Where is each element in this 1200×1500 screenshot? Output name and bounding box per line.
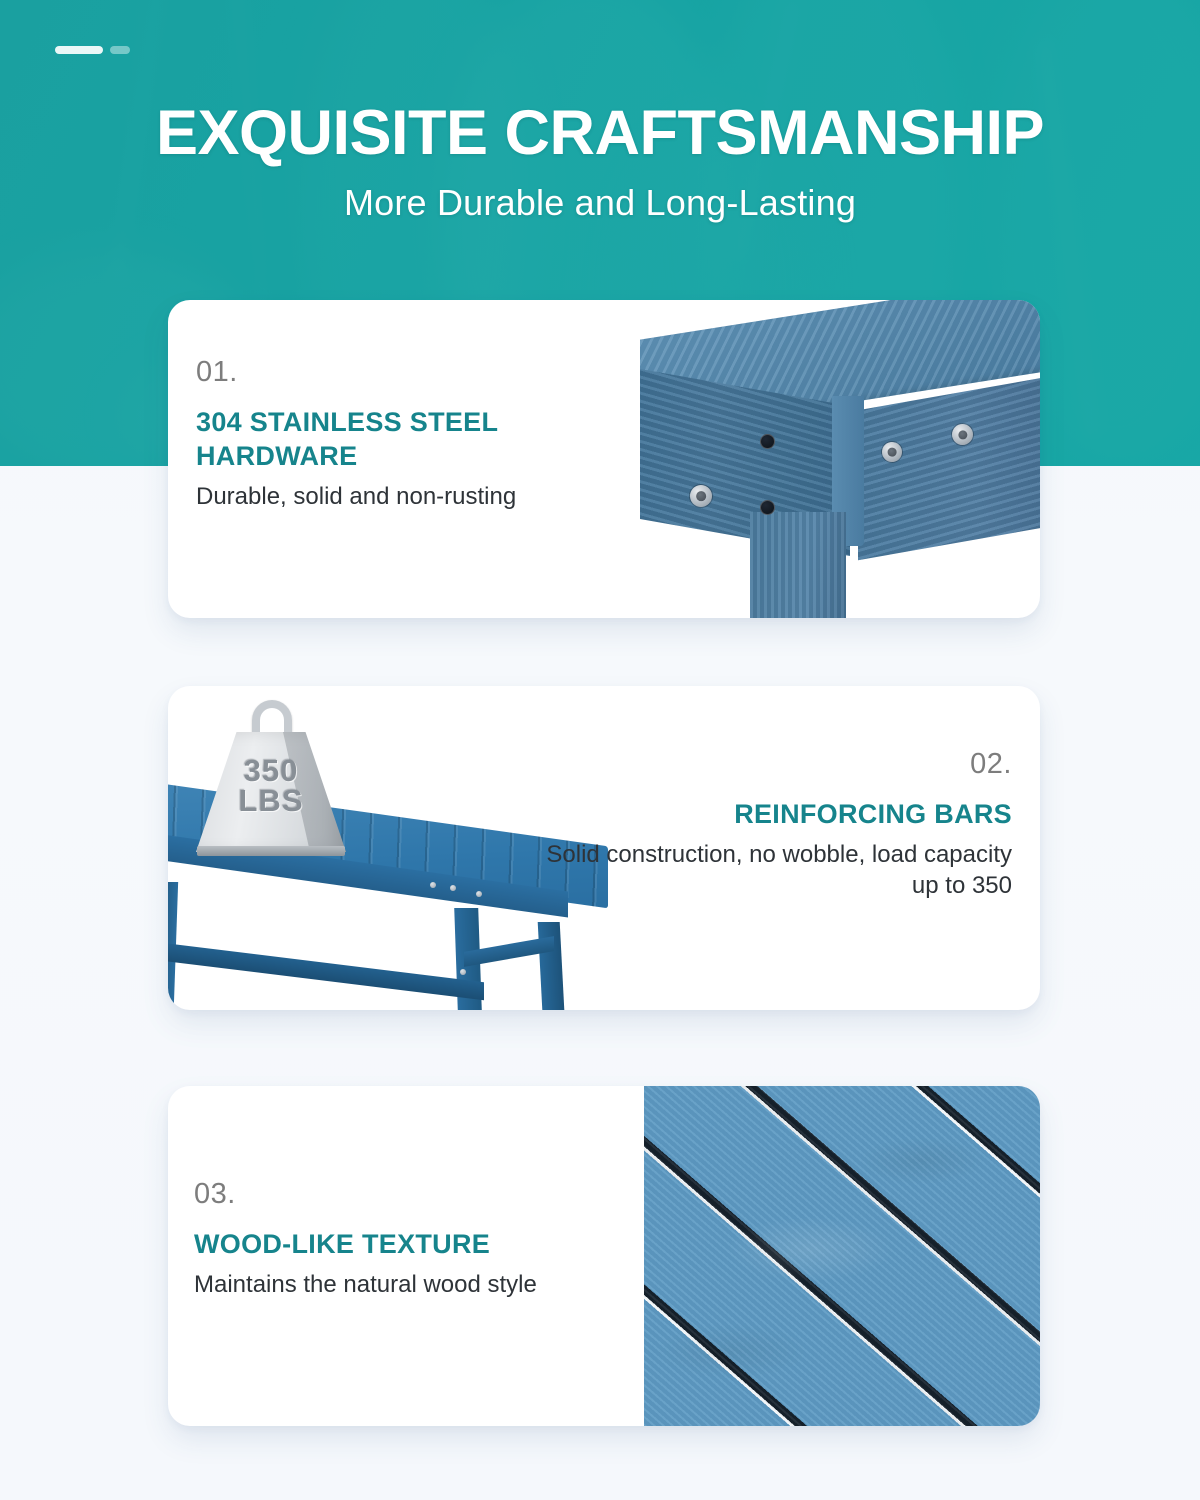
rivet-icon [476, 891, 482, 897]
screw-icon [760, 500, 775, 515]
diagonal-wood-grain-planks-image [644, 1086, 1040, 1426]
table-apron-right [858, 370, 1040, 561]
screw-icon [760, 434, 775, 449]
table-leg [750, 512, 846, 618]
rivet-icon [430, 882, 436, 888]
bolt-icon [690, 485, 712, 507]
rivet-icon [450, 885, 456, 891]
bench-leg-far-right [538, 922, 565, 1010]
feature-title: 304 STAINLESS STEEL HARDWARE [196, 405, 666, 473]
weight-badge-350lbs: 350 LBS [196, 700, 346, 856]
feature-number: 02. [542, 748, 1012, 781]
weight-label: 350 LBS [196, 756, 346, 817]
feature-card-3: 03. WOOD-LIKE TEXTURE Maintains the natu… [168, 1086, 1040, 1426]
pill-long-icon [55, 46, 103, 54]
feature-number: 01. [196, 356, 666, 389]
feature-description: Solid construction, no wobble, load capa… [542, 839, 1012, 901]
reinforcing-bar-long [168, 942, 484, 1001]
feature-title: REINFORCING BARS [542, 797, 1012, 831]
feature-card-2-text: 02. REINFORCING BARS Solid construction,… [542, 748, 1012, 901]
header-decorative-pills [55, 46, 130, 54]
feature-card-1: 01. 304 STAINLESS STEEL HARDWARE Durable… [168, 300, 1040, 618]
feature-description: Durable, solid and non-rusting [196, 481, 666, 512]
feature-title: WOOD-LIKE TEXTURE [194, 1227, 694, 1261]
bolt-icon [882, 442, 902, 462]
pill-short-icon [110, 46, 130, 54]
weight-value: 350 [196, 756, 346, 786]
feature-description: Maintains the natural wood style [194, 1269, 694, 1300]
weight-base [197, 846, 345, 856]
page-title: EXQUISITE CRAFTSMANSHIP [0, 100, 1200, 166]
weight-unit: LBS [196, 786, 346, 816]
feature-number: 03. [194, 1178, 694, 1211]
feature-card-3-text: 03. WOOD-LIKE TEXTURE Maintains the natu… [194, 1178, 694, 1300]
rivet-icon [460, 969, 466, 975]
feature-card-1-text: 01. 304 STAINLESS STEEL HARDWARE Durable… [196, 356, 666, 512]
wood-grain-texture [644, 1086, 1040, 1426]
page-subtitle: More Durable and Long-Lasting [0, 182, 1200, 224]
feature-card-2: 350 LBS 02. REINFORCING BARS Solid const… [168, 686, 1040, 1010]
table-corner-with-stainless-screws-image [640, 300, 1040, 618]
infographic-page: EXQUISITE CRAFTSMANSHIP More Durable and… [0, 0, 1200, 1500]
bolt-icon [952, 424, 973, 445]
